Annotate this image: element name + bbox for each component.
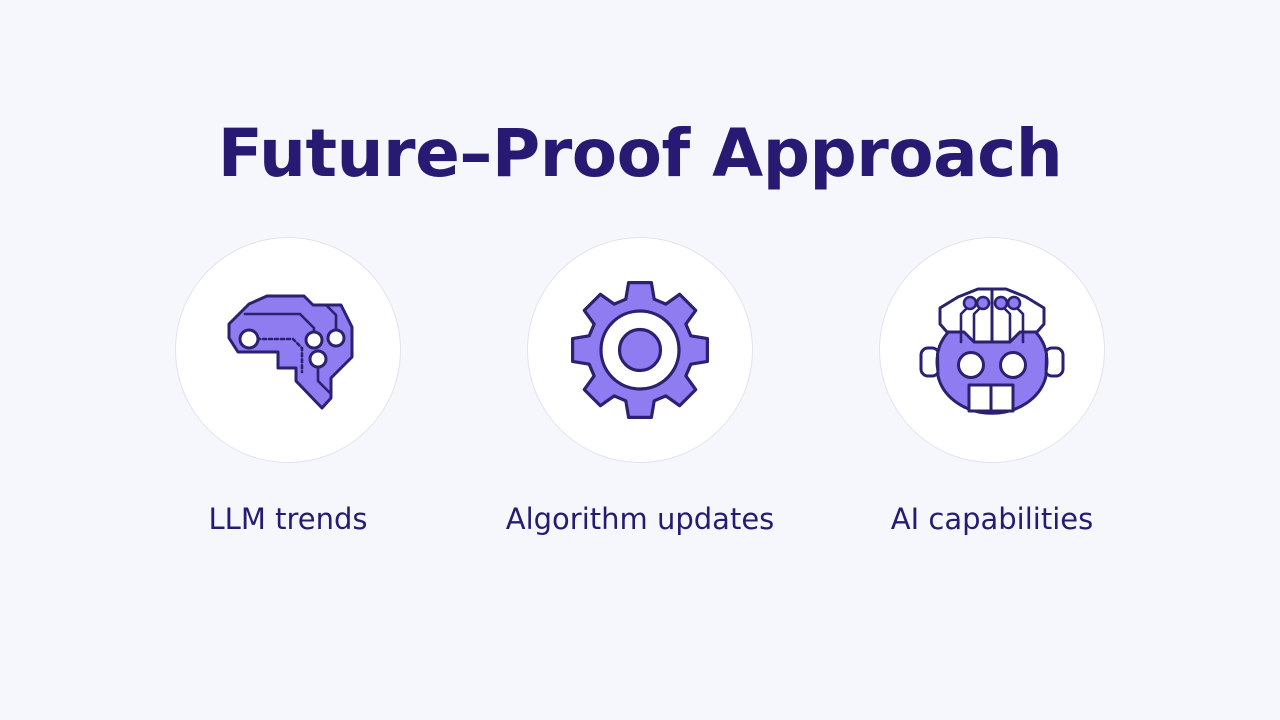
feature-card-llm-trends[interactable]: LLM trends xyxy=(175,237,401,534)
brain-circuit-icon xyxy=(218,280,358,420)
icon-circle-algorithm-updates xyxy=(527,237,753,463)
feature-card-row: LLM trends Algorithm updates xyxy=(0,237,1280,557)
feature-label-llm-trends: LLM trends xyxy=(209,505,368,534)
robot-head-icon xyxy=(917,280,1067,420)
slide-canvas: Future–Proof Approach xyxy=(0,0,1280,720)
icon-circle-ai-capabilities xyxy=(879,237,1105,463)
feature-label-algorithm-updates: Algorithm updates xyxy=(506,505,775,534)
gear-icon xyxy=(570,280,710,420)
page-title: Future–Proof Approach xyxy=(0,118,1280,191)
feature-card-ai-capabilities[interactable]: AI capabilities xyxy=(879,237,1105,534)
icon-circle-llm-trends xyxy=(175,237,401,463)
feature-label-ai-capabilities: AI capabilities xyxy=(891,505,1093,534)
feature-card-algorithm-updates[interactable]: Algorithm updates xyxy=(527,237,753,534)
